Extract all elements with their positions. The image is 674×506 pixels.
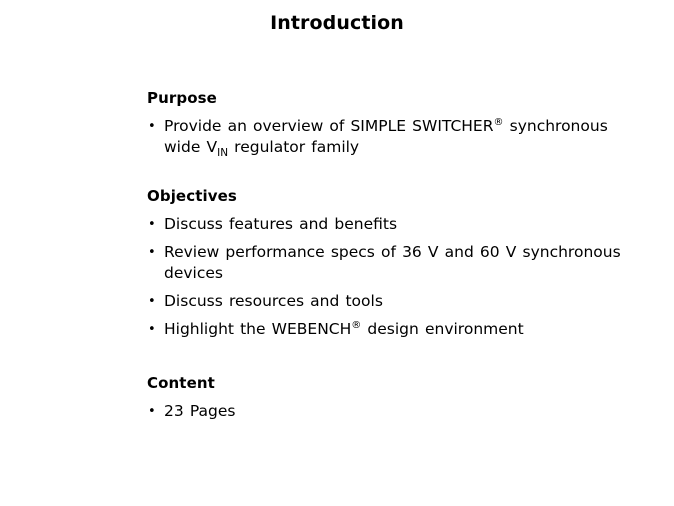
bullet-point-icon: • bbox=[148, 291, 156, 312]
bullet-point-icon: • bbox=[148, 401, 156, 422]
section-objectives: Objectives • Discuss features and benefi… bbox=[147, 186, 647, 340]
spacer bbox=[147, 393, 647, 401]
slide-body: Purpose • Provide an overview of SIMPLE … bbox=[147, 88, 647, 422]
list-item: • 23 Pages bbox=[147, 401, 647, 422]
list-item: • Review performance specs of 36 V and 6… bbox=[147, 242, 647, 284]
bullet-point-icon: • bbox=[148, 319, 156, 340]
list-item: • Highlight the WEBENCH® design environm… bbox=[147, 319, 647, 340]
spacer bbox=[147, 340, 647, 373]
section-content: Content • 23 Pages bbox=[147, 373, 647, 422]
bullet-list-purpose: • Provide an overview of SIMPLE SWITCHER… bbox=[147, 116, 647, 158]
spacer bbox=[147, 158, 647, 186]
list-item-text: Review performance specs of 36 V and 60 … bbox=[164, 243, 621, 282]
spacer bbox=[147, 108, 647, 116]
bullet-point-icon: • bbox=[148, 242, 156, 263]
list-item: • Discuss resources and tools bbox=[147, 291, 647, 312]
list-item-text: Discuss resources and tools bbox=[164, 292, 383, 310]
registered-mark-icon: ® bbox=[351, 320, 361, 331]
list-item-text: 23 Pages bbox=[164, 402, 235, 420]
spacer bbox=[147, 206, 647, 214]
bullet-point-icon: • bbox=[148, 214, 156, 235]
bullet-list-content: • 23 Pages bbox=[147, 401, 647, 422]
list-item: • Discuss features and benefits bbox=[147, 214, 647, 235]
page-title: Introduction bbox=[0, 10, 674, 36]
section-heading-purpose: Purpose bbox=[147, 88, 647, 108]
list-item-text: Highlight the WEBENCH® design environmen… bbox=[164, 320, 524, 338]
section-purpose: Purpose • Provide an overview of SIMPLE … bbox=[147, 88, 647, 158]
slide-root: Introduction Purpose • Provide an overvi… bbox=[0, 0, 674, 506]
list-item-text: Provide an overview of SIMPLE SWITCHER® … bbox=[164, 117, 608, 156]
registered-mark-icon: ® bbox=[494, 117, 504, 128]
bullet-list-objectives: • Discuss features and benefits • Review… bbox=[147, 214, 647, 340]
subscript-text: IN bbox=[217, 147, 228, 159]
list-item: • Provide an overview of SIMPLE SWITCHER… bbox=[147, 116, 647, 158]
section-heading-content: Content bbox=[147, 373, 647, 393]
bullet-point-icon: • bbox=[148, 116, 156, 137]
section-heading-objectives: Objectives bbox=[147, 186, 647, 206]
list-item-text: Discuss features and benefits bbox=[164, 215, 397, 233]
